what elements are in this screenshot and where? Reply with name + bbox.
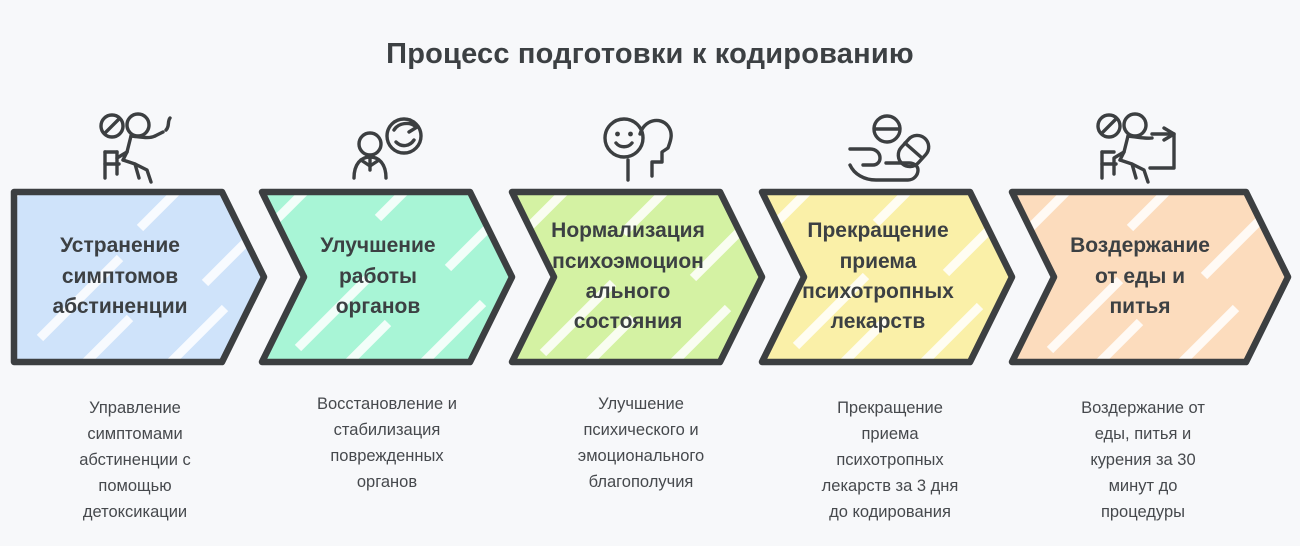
caption-row: Управление симптомами абстиненции с помо…	[0, 395, 1300, 545]
no-eating-person-icon	[1008, 110, 1268, 188]
step-caption-4: Прекращение приема психотропных лекарств…	[775, 395, 1005, 525]
process-step-2[interactable]: Улучшение работы органов	[258, 108, 518, 378]
hand-pills-icon	[758, 110, 1018, 188]
step-caption-1: Управление симптомами абстиненции с помо…	[20, 395, 250, 525]
person-recovery-icon	[258, 110, 518, 188]
process-flow: Устранение симптомов абстиненции	[0, 108, 1300, 378]
chevron-shape-2[interactable]: Улучшение работы органов	[258, 188, 518, 366]
step-caption-2: Восстановление и стабилизация поврежденн…	[272, 391, 502, 495]
chevron-shape-4[interactable]: Прекращение приема психотропных лекарств	[758, 188, 1018, 366]
page-title: Процесс подготовки к кодированию	[0, 38, 1300, 71]
step-caption-5: Воздержание от еды, питья и курения за 3…	[1028, 395, 1258, 525]
process-step-3[interactable]: Нормализация психоэмоцион ального состоя…	[508, 108, 768, 378]
step-caption-3: Улучшение психического и эмоционального …	[526, 391, 756, 495]
head-smiley-icon	[508, 110, 768, 188]
chevron-shape-1[interactable]: Устранение симптомов абстиненции	[10, 188, 270, 366]
process-step-5[interactable]: Воздержание от еды и питья	[1008, 108, 1268, 378]
no-smoking-person-icon	[10, 110, 270, 188]
process-step-4[interactable]: Прекращение приема психотропных лекарств	[758, 108, 1018, 378]
chevron-shape-5[interactable]: Воздержание от еды и питья	[1008, 188, 1268, 366]
chevron-shape-3[interactable]: Нормализация психоэмоцион ального состоя…	[508, 188, 768, 366]
process-step-1[interactable]: Устранение симптомов абстиненции	[10, 108, 270, 378]
